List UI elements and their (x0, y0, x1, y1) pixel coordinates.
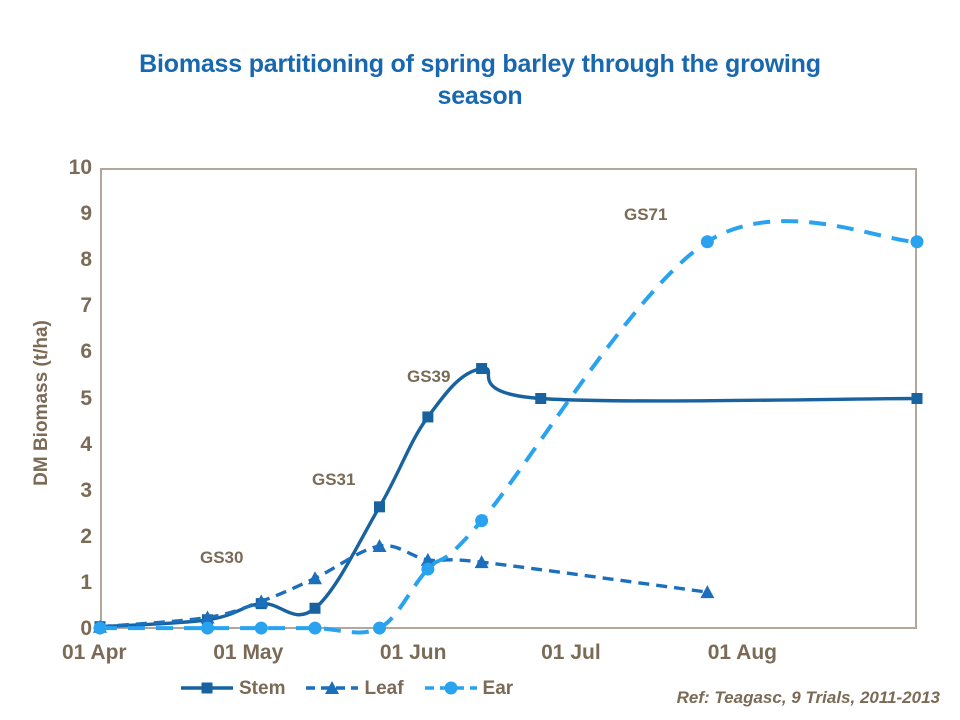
y-tick-label: 9 (48, 203, 92, 224)
legend-label-ear: Ear (483, 679, 514, 698)
y-tick-label: 10 (48, 157, 92, 178)
legend-marker-stem (202, 683, 213, 694)
y-tick-label: 7 (48, 295, 92, 316)
legend-swatch-ear (424, 678, 478, 698)
x-tick-label: 01 Aug (708, 642, 777, 663)
gs-annotation-gs71: GS71 (624, 206, 667, 223)
x-tick-label: 01 Jul (541, 642, 601, 663)
source-reference-note: Ref: Teagasc, 9 Trials, 2011-2013 (677, 688, 940, 708)
y-tick-label: 2 (48, 526, 92, 547)
chart-title: Biomass partitioning of spring barley th… (120, 48, 840, 112)
y-tick-label: 0 (48, 618, 92, 639)
legend-marker-ear (444, 682, 457, 695)
gs-annotation-gs31: GS31 (312, 471, 355, 488)
y-tick-label: 4 (48, 434, 92, 455)
y-tick-label: 1 (48, 572, 92, 593)
x-tick-label: 01 May (213, 642, 283, 663)
legend-item-leaf[interactable]: Leaf (305, 678, 403, 698)
legend-label-leaf: Leaf (364, 679, 403, 698)
legend-label-stem: Stem (239, 679, 285, 698)
gs-annotation-gs30: GS30 (200, 549, 243, 566)
legend-swatch-stem (180, 678, 234, 698)
y-tick-label: 5 (48, 388, 92, 409)
y-tick-label: 8 (48, 249, 92, 270)
y-tick-label: 6 (48, 341, 92, 362)
y-tick-label: 3 (48, 480, 92, 501)
chart-container: Biomass partitioning of spring barley th… (0, 0, 960, 720)
chart-legend[interactable]: StemLeafEar (180, 678, 513, 698)
y-axis-tick-labels: 109876543210 (26, 0, 92, 720)
x-tick-label: 01 Apr (62, 642, 127, 663)
legend-item-stem[interactable]: Stem (180, 678, 285, 698)
x-tick-label: 01 Jun (380, 642, 447, 663)
gs-annotation-gs39: GS39 (407, 368, 450, 385)
legend-swatch-leaf (305, 678, 359, 698)
legend-item-ear[interactable]: Ear (424, 678, 514, 698)
